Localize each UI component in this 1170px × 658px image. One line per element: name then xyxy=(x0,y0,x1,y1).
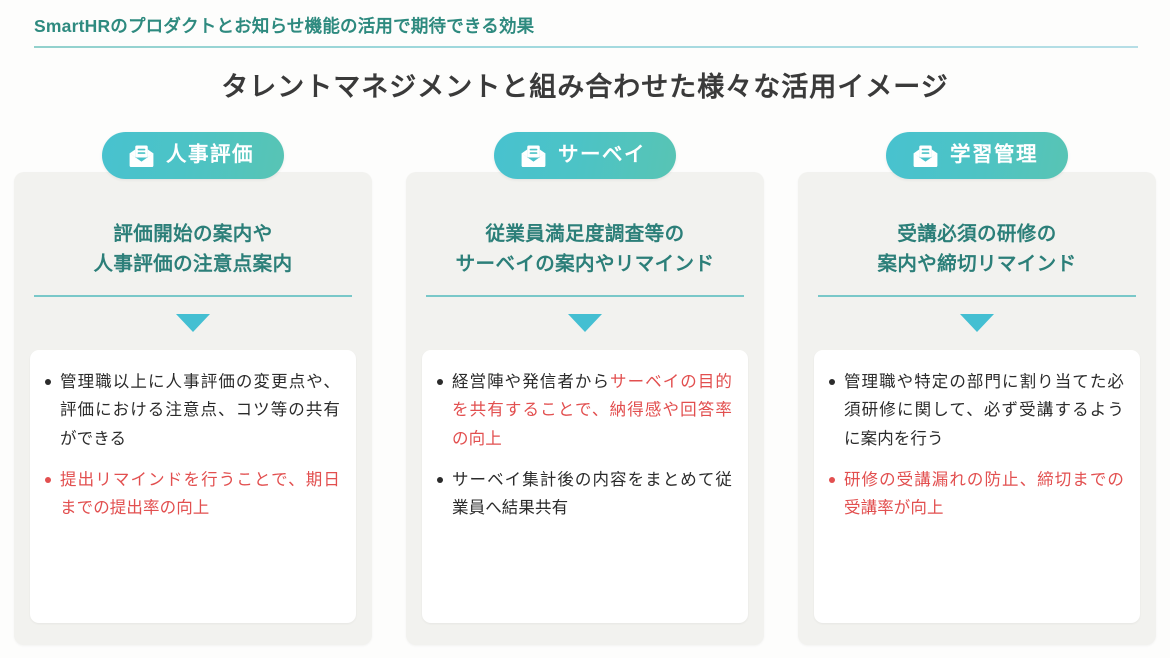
category-card: 評価開始の案内や 人事評価の注意点案内 管理職以上に人事評価の変更点や、評価にお… xyxy=(14,172,372,645)
card-detail-panel: 管理職以上に人事評価の変更点や、評価における注意点、コツ等の共有ができる提出リマ… xyxy=(30,350,356,623)
category-card: 受講必須の研修の 案内や締切リマインド 管理職や特定の部門に割り当てた必須研修に… xyxy=(798,172,1156,645)
category-badge-label: 人事評価 xyxy=(166,145,254,166)
card-columns: 人事評価 評価開始の案内や 人事評価の注意点案内 管理職以上に人事評価の変更点や… xyxy=(14,155,1156,645)
card-heading: 受講必須の研修の 案内や締切リマインド xyxy=(877,219,1076,279)
bullet-item: 管理職や特定の部門に割り当てた必須研修に関して、必ず受講するように案内を行う xyxy=(828,368,1124,453)
bullet-item: 管理職以上に人事評価の変更点や、評価における注意点、コツ等の共有ができる xyxy=(44,368,340,453)
category-badge-label: 学習管理 xyxy=(950,145,1038,166)
slide-canvas: SmartHRのプロダクトとお知らせ機能の活用で期待できる効果 タレントマネジメ… xyxy=(0,0,1170,658)
bullet-text: 管理職以上に人事評価の変更点や、評価における注意点、コツ等の共有ができる xyxy=(60,373,340,448)
page-title: タレントマネジメントと組み合わせた様々な活用イメージ xyxy=(0,70,1170,105)
category-badge-2[interactable]: サーベイ xyxy=(494,132,676,179)
bullet-item: 研修の受講漏れの防止、締切までの受講率が向上 xyxy=(828,466,1124,523)
bullet-text: 管理職や特定の部門に割り当てた必須研修に関して、必ず受講するように案内を行う xyxy=(844,373,1124,448)
card-divider xyxy=(818,295,1136,297)
triangle-down-icon xyxy=(960,314,994,332)
open-envelope-document-icon xyxy=(520,144,547,168)
category-column-3: 学習管理 受講必須の研修の 案内や締切リマインド 管理職や特定の部門に割り当てた… xyxy=(798,155,1156,645)
category-badge-1[interactable]: 人事評価 xyxy=(102,132,284,179)
card-heading: 評価開始の案内や 人事評価の注意点案内 xyxy=(93,219,292,279)
open-envelope-document-icon xyxy=(912,144,939,168)
bullet-text-highlighted: 研修の受講漏れの防止、締切までの受講率が向上 xyxy=(844,471,1124,517)
bullet-list: 管理職や特定の部門に割り当てた必須研修に関して、必ず受講するように案内を行う研修… xyxy=(828,368,1124,523)
category-column-2: サーベイ 従業員満足度調査等の サーベイの案内やリマインド 経営陣や発信者からサ… xyxy=(406,155,764,645)
bullet-list: 管理職以上に人事評価の変更点や、評価における注意点、コツ等の共有ができる提出リマ… xyxy=(44,368,340,523)
card-heading-line-2: サーベイの案内やリマインド xyxy=(456,253,715,275)
category-badge-label: サーベイ xyxy=(558,145,646,166)
card-heading-line-1: 従業員満足度調査等の xyxy=(485,223,684,245)
card-heading-line-1: 評価開始の案内や xyxy=(113,223,272,245)
slide-header: SmartHRのプロダクトとお知らせ機能の活用で期待できる効果 xyxy=(34,14,1138,48)
bullet-item: 経営陣や発信者からサーベイの目的を共有することで、納得感や回答率の向上 xyxy=(436,368,732,453)
triangle-down-icon xyxy=(568,314,602,332)
card-heading-line-2: 案内や締切リマインド xyxy=(877,253,1076,275)
header-divider-rule xyxy=(34,46,1138,48)
card-divider xyxy=(426,295,744,297)
bullet-item: サーベイ集計後の内容をまとめて従業員へ結果共有 xyxy=(436,466,732,523)
open-envelope-document-icon xyxy=(128,144,155,168)
card-heading-line-2: 人事評価の注意点案内 xyxy=(93,253,292,275)
category-card: 従業員満足度調査等の サーベイの案内やリマインド 経営陣や発信者からサーベイの目… xyxy=(406,172,764,645)
bullet-text-highlighted: 提出リマインドを行うことで、期日までの提出率の向上 xyxy=(60,471,340,517)
card-divider xyxy=(34,295,352,297)
bullet-text: 経営陣や発信者から xyxy=(452,373,610,391)
bullet-list: 経営陣や発信者からサーベイの目的を共有することで、納得感や回答率の向上サーベイ集… xyxy=(436,368,732,523)
bullet-item: 提出リマインドを行うことで、期日までの提出率の向上 xyxy=(44,466,340,523)
card-heading: 従業員満足度調査等の サーベイの案内やリマインド xyxy=(456,219,715,279)
header-title: SmartHRのプロダクトとお知らせ機能の活用で期待できる効果 xyxy=(34,14,1138,39)
category-badge-3[interactable]: 学習管理 xyxy=(886,132,1068,179)
category-column-1: 人事評価 評価開始の案内や 人事評価の注意点案内 管理職以上に人事評価の変更点や… xyxy=(14,155,372,645)
card-detail-panel: 管理職や特定の部門に割り当てた必須研修に関して、必ず受講するように案内を行う研修… xyxy=(814,350,1140,623)
card-heading-line-1: 受講必須の研修の xyxy=(897,223,1056,245)
bullet-text: サーベイ集計後の内容をまとめて従業員へ結果共有 xyxy=(452,471,732,517)
triangle-down-icon xyxy=(176,314,210,332)
card-detail-panel: 経営陣や発信者からサーベイの目的を共有することで、納得感や回答率の向上サーベイ集… xyxy=(422,350,748,623)
